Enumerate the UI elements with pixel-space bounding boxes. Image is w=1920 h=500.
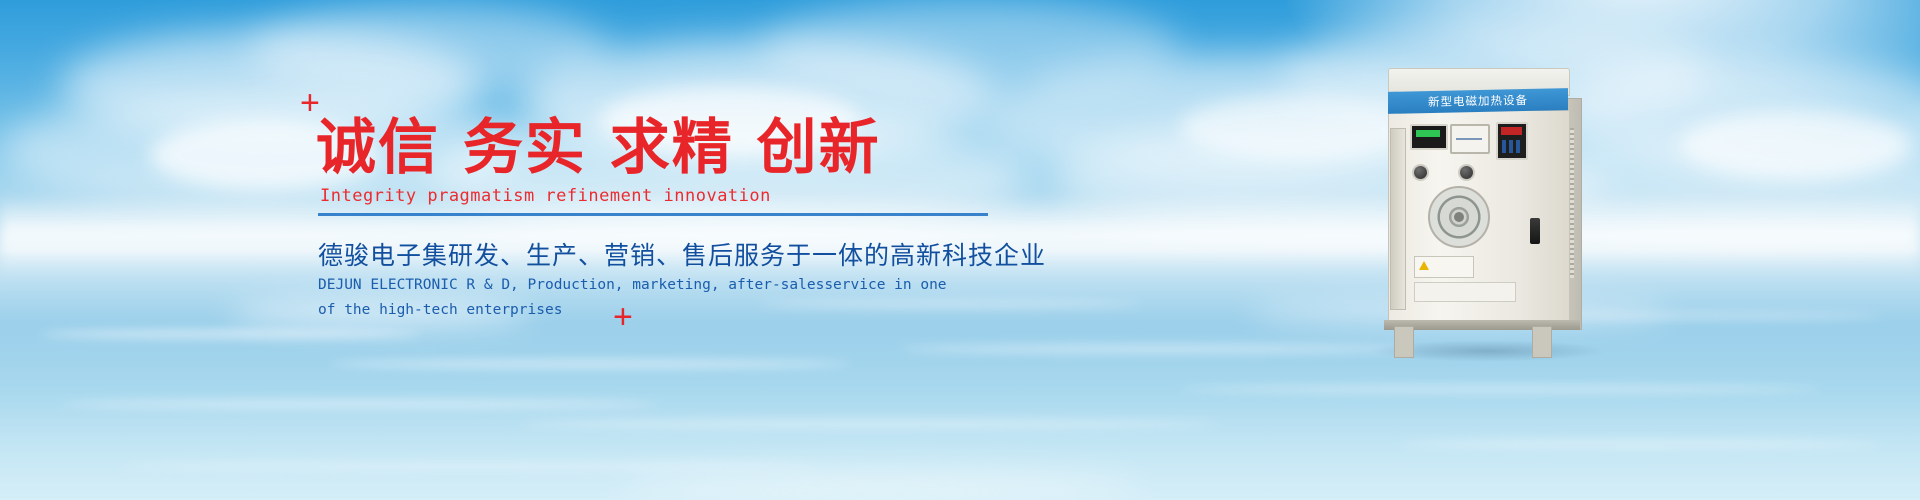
wave-highlight bbox=[900, 345, 1420, 353]
promo-banner: + + 诚信 务实 求精 创新 Integrity pragmatism ref… bbox=[0, 0, 1920, 500]
wave-highlight bbox=[60, 400, 660, 408]
machine-control-keypad bbox=[1496, 122, 1528, 160]
wave-highlight bbox=[330, 360, 850, 368]
machine-spec-label bbox=[1414, 282, 1516, 302]
machine-left-strip bbox=[1390, 128, 1406, 310]
water-glint bbox=[620, 470, 1140, 500]
machine-analog-meter bbox=[1450, 124, 1490, 154]
wave-highlight bbox=[520, 420, 1220, 428]
machine-fan-grille bbox=[1428, 186, 1490, 248]
banner-description-chinese: 德骏电子集研发、生产、营销、售后服务于一体的高新科技企业 bbox=[318, 236, 1046, 272]
banner-description-english-line2: of the high-tech enterprises bbox=[318, 298, 1018, 323]
machine-label-band: 新型电磁加热设备 bbox=[1388, 88, 1568, 114]
cloud-puff bbox=[1680, 110, 1910, 180]
machine-digital-display bbox=[1410, 124, 1448, 150]
divider-rule bbox=[318, 213, 988, 216]
wave-highlight bbox=[120, 462, 820, 470]
warning-triangle-icon bbox=[1419, 261, 1429, 270]
wave-highlight bbox=[40, 330, 420, 338]
banner-description-english: DEJUN ELECTRONIC R & D, Production, mark… bbox=[318, 273, 1018, 324]
machine-knob bbox=[1458, 164, 1475, 181]
wave-highlight bbox=[1400, 440, 1880, 448]
machine-foot bbox=[1532, 326, 1552, 358]
machine-warning-tag bbox=[1414, 256, 1474, 278]
machine-foot bbox=[1394, 326, 1414, 358]
banner-headline-english: Integrity pragmatism refinement innovati… bbox=[320, 186, 771, 206]
machine-door-handle bbox=[1530, 218, 1540, 244]
product-machine: 新型电磁加热设备 bbox=[1380, 68, 1588, 348]
wave-highlight bbox=[1180, 385, 1820, 393]
machine-knob bbox=[1412, 164, 1429, 181]
banner-headline: 诚信 务实 求精 创新 bbox=[316, 118, 881, 178]
banner-description-english-line1: DEJUN ELECTRONIC R & D, Production, mark… bbox=[318, 273, 1018, 298]
machine-label-text: 新型电磁加热设备 bbox=[1428, 92, 1528, 110]
